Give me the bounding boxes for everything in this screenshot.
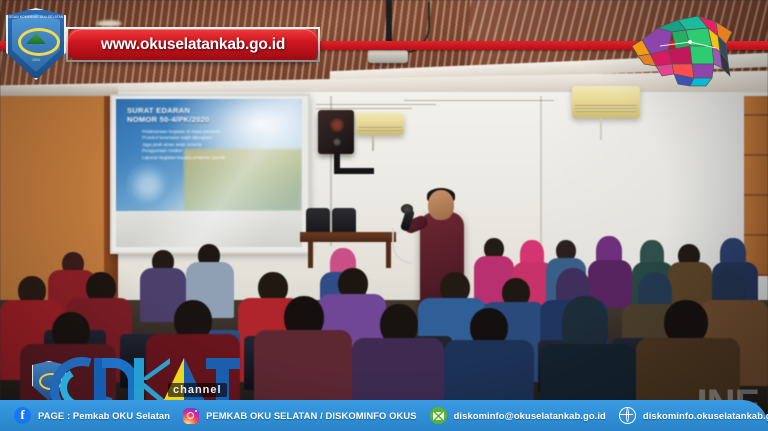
- air-conditioner-unit: [572, 86, 640, 118]
- emblem-top-text: OGAN KOMERING ULU SELATAN: [6, 15, 66, 19]
- website-contact-item[interactable]: diskominfo.okuselatankab.go.id: [619, 407, 768, 424]
- slide-bullets: Pelaksanaan kegiatan di masa pandemi Pro…: [142, 129, 294, 161]
- ceiling-projector: [368, 50, 408, 63]
- left-wood-panel-wall: [0, 86, 116, 301]
- table-leg: [308, 242, 313, 268]
- email-icon: [430, 407, 447, 424]
- broadcast-frame: SURAT EDARAN NOMOR 50-4/PK/2020 Pelaksan…: [0, 0, 768, 431]
- website-label: diskominfo.okuselatankab.go.id: [643, 410, 768, 421]
- ac-vent: [575, 104, 638, 112]
- email-contact-item[interactable]: diskominfo@okuselatankab.go.id: [430, 407, 606, 424]
- slide-title-line-1: SURAT EDARAN: [127, 106, 210, 115]
- ac-drain-pipe: [600, 118, 602, 140]
- projected-slide: SURAT EDARAN NOMOR 50-4/PK/2020 Pelaksan…: [116, 99, 302, 211]
- email-label: diskominfo@okuselatankab.go.id: [454, 410, 606, 421]
- district-map-graphic: [620, 6, 760, 90]
- ac-vent: [358, 125, 402, 131]
- wall-speaker: [318, 110, 354, 154]
- table-leg: [386, 242, 391, 268]
- speaker-tweeter: [333, 138, 341, 146]
- watermark-lettering: channel: [50, 353, 220, 405]
- instagram-label: PEMKAB OKU SELATAN / DISKOMINFO OKUS: [206, 410, 417, 421]
- facebook-icon: f: [14, 407, 31, 424]
- watermark-tagline: channel: [168, 383, 227, 397]
- bottom-contact-bar: f PAGE : Pemkab OKU Selatan PEMKAB OKU S…: [0, 400, 768, 431]
- wall-cable: [316, 104, 436, 105]
- screen-lower-blank: [116, 211, 302, 247]
- speaker-bracket-arm: [334, 168, 374, 174]
- coat-of-arms-emblem: OGAN KOMERING ULU SELATAN 2004: [6, 8, 66, 80]
- dkat-channel-watermark: channel: [10, 345, 222, 405]
- watermark-letter-k-stem: [134, 358, 144, 404]
- emblem-bottom-text: 2004: [6, 58, 66, 62]
- instagram-contact-item[interactable]: PEMKAB OKU SELATAN / DISKOMINFO OKUS: [183, 408, 417, 424]
- microphone-head: [401, 204, 413, 214]
- speaker-cone: [330, 118, 344, 132]
- wall-cable: [316, 108, 412, 109]
- slide-title-line-2: NOMOR 50-4/PK/2020: [127, 115, 210, 124]
- wall-cable: [404, 100, 554, 101]
- slide-title: SURAT EDARAN NOMOR 50-4/PK/2020: [127, 106, 210, 124]
- facebook-label: PAGE : Pemkab OKU Selatan: [38, 410, 170, 421]
- facebook-contact-item[interactable]: f PAGE : Pemkab OKU Selatan: [14, 407, 170, 424]
- website-url-banner[interactable]: www.okuselatankab.go.id: [66, 27, 320, 62]
- right-wood-panel-wall: [744, 96, 768, 276]
- left-wall-cornice: [0, 86, 118, 96]
- ceiling-downlight: [96, 20, 122, 27]
- ac-drain-pipe: [372, 135, 374, 151]
- website-url-text: www.okuselatankab.go.id: [101, 36, 285, 54]
- watermark-letter-k-upper: [140, 358, 170, 380]
- website-icon: [619, 407, 636, 424]
- stage-table: [300, 232, 396, 242]
- watermark-letter-a-shadow: [184, 358, 206, 404]
- instagram-icon: [183, 408, 199, 424]
- watermark-letter-t-stem: [216, 358, 229, 404]
- presenter-head: [428, 190, 454, 220]
- wall-seam: [540, 96, 542, 266]
- air-conditioner-unit: [356, 113, 404, 135]
- map-icon: [620, 6, 760, 90]
- slide-bullet: Laporan kegiatan kepada pimpinan daerah: [142, 155, 294, 161]
- slide-seal-graphic: [126, 163, 170, 207]
